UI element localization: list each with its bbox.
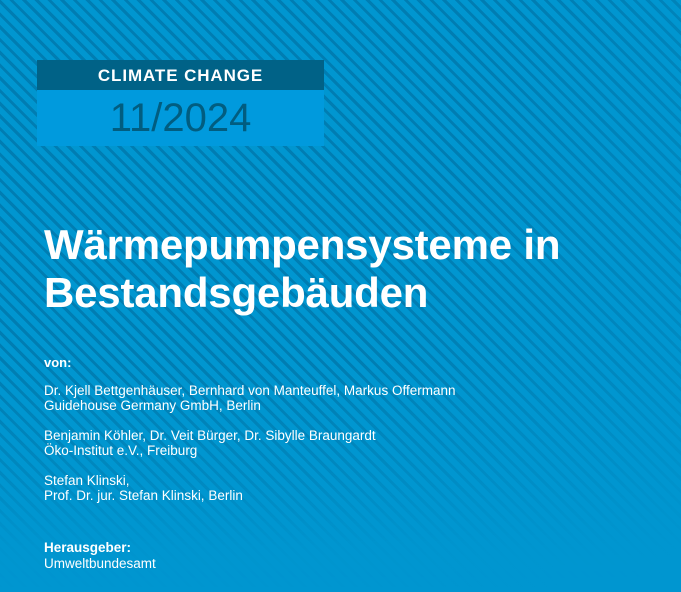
author-group: Stefan Klinski, Prof. Dr. jur. Stefan Kl… (44, 473, 604, 504)
issue-number-label: 11/2024 (110, 98, 252, 138)
publisher-label: Herausgeber: (44, 540, 156, 556)
author-names: Dr. Kjell Bettgenhäuser, Bernhard von Ma… (44, 383, 604, 399)
series-badge-top-bar: CLIMATE CHANGE (37, 60, 324, 90)
authors-label: von: (44, 355, 604, 371)
page-title-line-2: Bestandsgebäuden (44, 269, 644, 316)
publisher-block: Herausgeber: Umweltbundesamt (44, 540, 156, 572)
author-affiliation: Prof. Dr. jur. Stefan Klinski, Berlin (44, 488, 604, 504)
author-affiliation: Guidehouse Germany GmbH, Berlin (44, 398, 604, 414)
authors-block: von: Dr. Kjell Bettgenhäuser, Bernhard v… (44, 355, 604, 504)
publisher-name: Umweltbundesamt (44, 556, 156, 572)
series-badge: CLIMATE CHANGE 11/2024 (37, 60, 324, 146)
author-names: Stefan Klinski, (44, 473, 604, 489)
series-name-label: CLIMATE CHANGE (98, 67, 263, 84)
author-group: Benjamin Köhler, Dr. Veit Bürger, Dr. Si… (44, 428, 604, 459)
author-affiliation: Öko-Institut e.V., Freiburg (44, 443, 604, 459)
author-names: Benjamin Köhler, Dr. Veit Bürger, Dr. Si… (44, 428, 604, 444)
series-badge-bottom-bar: 11/2024 (37, 90, 324, 146)
author-group: Dr. Kjell Bettgenhäuser, Bernhard von Ma… (44, 383, 604, 414)
page-title: Wärmepumpensysteme in Bestandsgebäuden (44, 221, 644, 316)
report-cover-page: CLIMATE CHANGE 11/2024 Wärmepumpensystem… (0, 0, 681, 592)
page-title-line-1: Wärmepumpensysteme in (44, 221, 644, 268)
